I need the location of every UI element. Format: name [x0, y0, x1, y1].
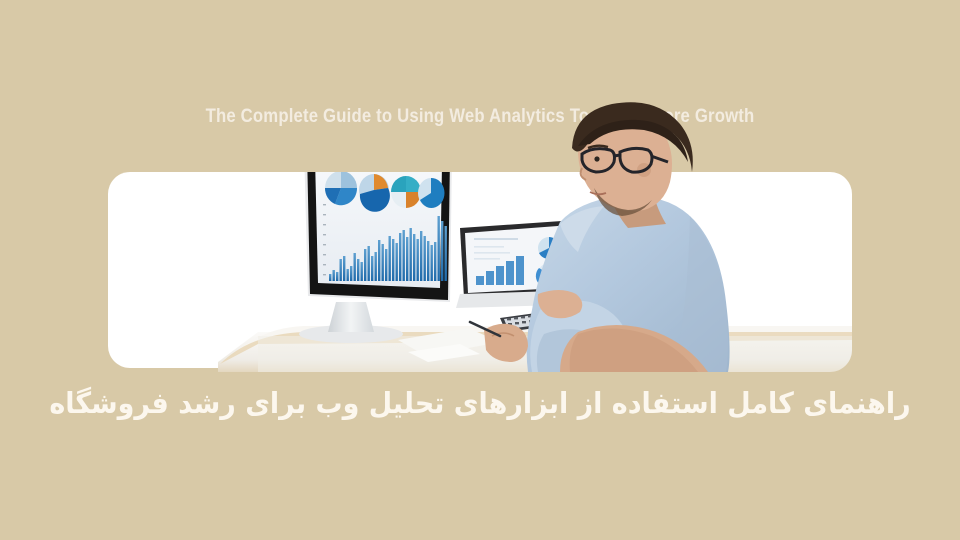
photo-card: [108, 172, 852, 368]
page-title-en: The Complete Guide to Using Web Analytic…: [58, 106, 903, 128]
glasses-icon: [582, 148, 668, 172]
page-title-fa: راهنمای کامل استفاده از ابزارهای تحلیل و…: [34, 386, 927, 420]
banner-stage: The Complete Guide to Using Web Analytic…: [0, 0, 960, 540]
